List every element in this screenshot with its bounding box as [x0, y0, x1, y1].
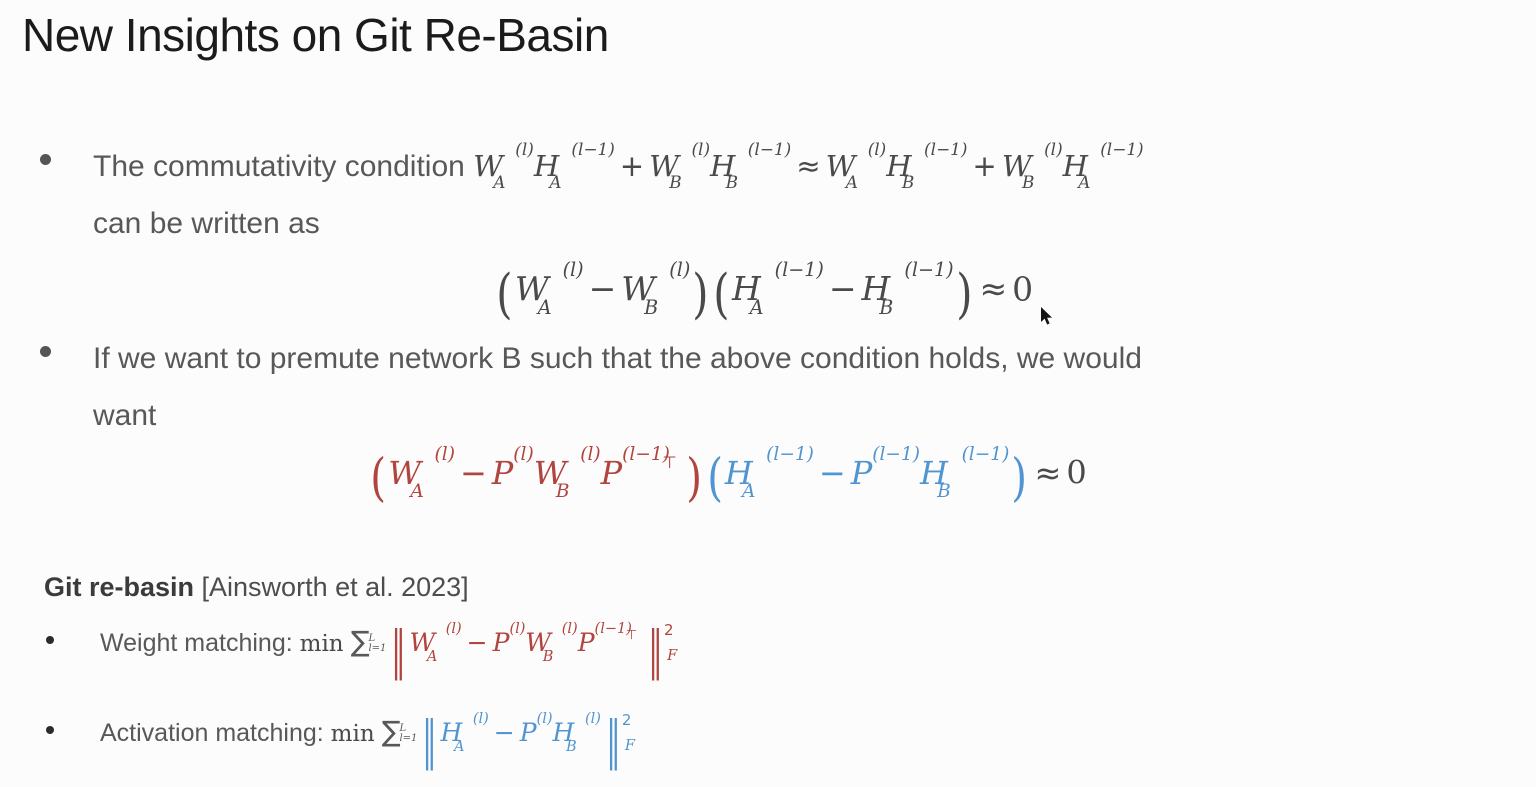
sub-bullet-1-label: Weight matching:	[100, 629, 300, 657]
section-citation: [Ainsworth et al. 2023]	[194, 572, 469, 602]
norm-bar-icon: ‖	[423, 721, 436, 761]
norm-bar-icon: ‖	[648, 631, 661, 671]
paren-close-icon: )	[956, 262, 972, 325]
min-operator: min	[331, 721, 375, 747]
norm-expression-weight: ‖WA(l)−P(l)WB(l)P(l−1)⊤‖2F	[386, 628, 686, 657]
norm-subscript: F	[667, 648, 677, 664]
paren-open-icon: (	[713, 262, 729, 325]
bullet-dot-icon	[46, 726, 54, 734]
bullet-item-commutativity: The commutativity condition WA(l)HA(l−1)…	[40, 138, 1536, 252]
bullet-item-permutation: If we want to premute network B such tha…	[40, 330, 1536, 444]
bullet-2-body: If we want to premute network B such tha…	[93, 330, 1142, 444]
paren-open-icon: (	[496, 262, 512, 325]
equation-permuted-condition: (WA(l)−P(l)WB(l)P(l−1)⊤)(HA(l−1)−P(l−1)H…	[368, 448, 1087, 508]
bullet-2-trail-text: want	[93, 387, 1142, 444]
paren-open-icon: (	[707, 448, 723, 508]
equation-left-group-red: (WA(l)−P(l)WB(l)P(l−1)⊤)	[368, 454, 705, 492]
summation-icon: ∑	[382, 712, 401, 752]
sub-bullet-1-body: Weight matching: min ∑Ll=1‖WA(l)−P(l)WB(…	[100, 622, 686, 671]
sub-bullet-2-body: Activation matching: min ∑Ll=1‖HA(l)−P(l…	[100, 712, 644, 761]
section-name: Git re-basin	[44, 572, 194, 602]
summation-limits: Ll=1	[399, 724, 417, 744]
bullet-1-trail-text: can be written as	[93, 195, 1144, 252]
paren-close-icon: )	[693, 262, 709, 325]
bullet-dot-icon	[40, 154, 51, 165]
mouse-pointer-icon	[1041, 307, 1055, 327]
bullet-2-lead-text: If we want to premute network B such tha…	[93, 330, 1142, 387]
equation-right-group-blue: (HA(l−1)−P(l−1)HB(l−1))	[705, 454, 1030, 492]
sub-bullet-2-label: Activation matching:	[100, 719, 331, 747]
norm-bar-icon: ‖	[606, 721, 619, 761]
summation-icon: ∑	[351, 622, 370, 662]
section-heading-git-rebasin: Git re-basin [Ainsworth et al. 2023]	[44, 572, 469, 603]
inline-equation-commutativity: WA(l)HA(l−1)+WB(l)HB(l−1)≈WA(l)HB(l−1)+W…	[473, 149, 1143, 183]
page-title: New Insights on Git Re-Basin	[22, 6, 609, 64]
sub-bullet-activation-matching: Activation matching: min ∑Ll=1‖HA(l)−P(l…	[46, 712, 644, 761]
min-operator: min	[300, 631, 344, 657]
paren-close-icon: )	[1012, 448, 1028, 508]
bullet-dot-icon	[46, 636, 54, 644]
norm-bar-icon: ‖	[392, 631, 405, 671]
norm-exponent: 2	[664, 621, 674, 639]
bullet-1-lead-text: The commutativity condition	[93, 150, 473, 183]
sub-bullet-weight-matching: Weight matching: min ∑Ll=1‖WA(l)−P(l)WB(…	[46, 622, 686, 671]
summation-lower-limit: l=1	[399, 734, 417, 744]
paren-open-icon: (	[370, 448, 386, 508]
slide-canvas: New Insights on Git Re-Basin The commuta…	[0, 0, 1536, 787]
norm-exponent: 2	[622, 711, 632, 729]
summation-limits: Ll=1	[368, 634, 386, 654]
summation-lower-limit: l=1	[368, 644, 386, 654]
paren-close-icon: )	[687, 448, 703, 508]
equation-commutativity-rewritten: (WA(l)−WB(l))(HA(l−1)−HB(l−1))≈0	[494, 262, 1033, 325]
norm-expression-activation: ‖HA(l)−P(l)HB(l)‖2F	[417, 718, 643, 747]
bullet-1-body: The commutativity condition WA(l)HA(l−1)…	[93, 138, 1144, 252]
bullet-dot-icon	[40, 346, 51, 357]
norm-subscript: F	[625, 738, 635, 754]
